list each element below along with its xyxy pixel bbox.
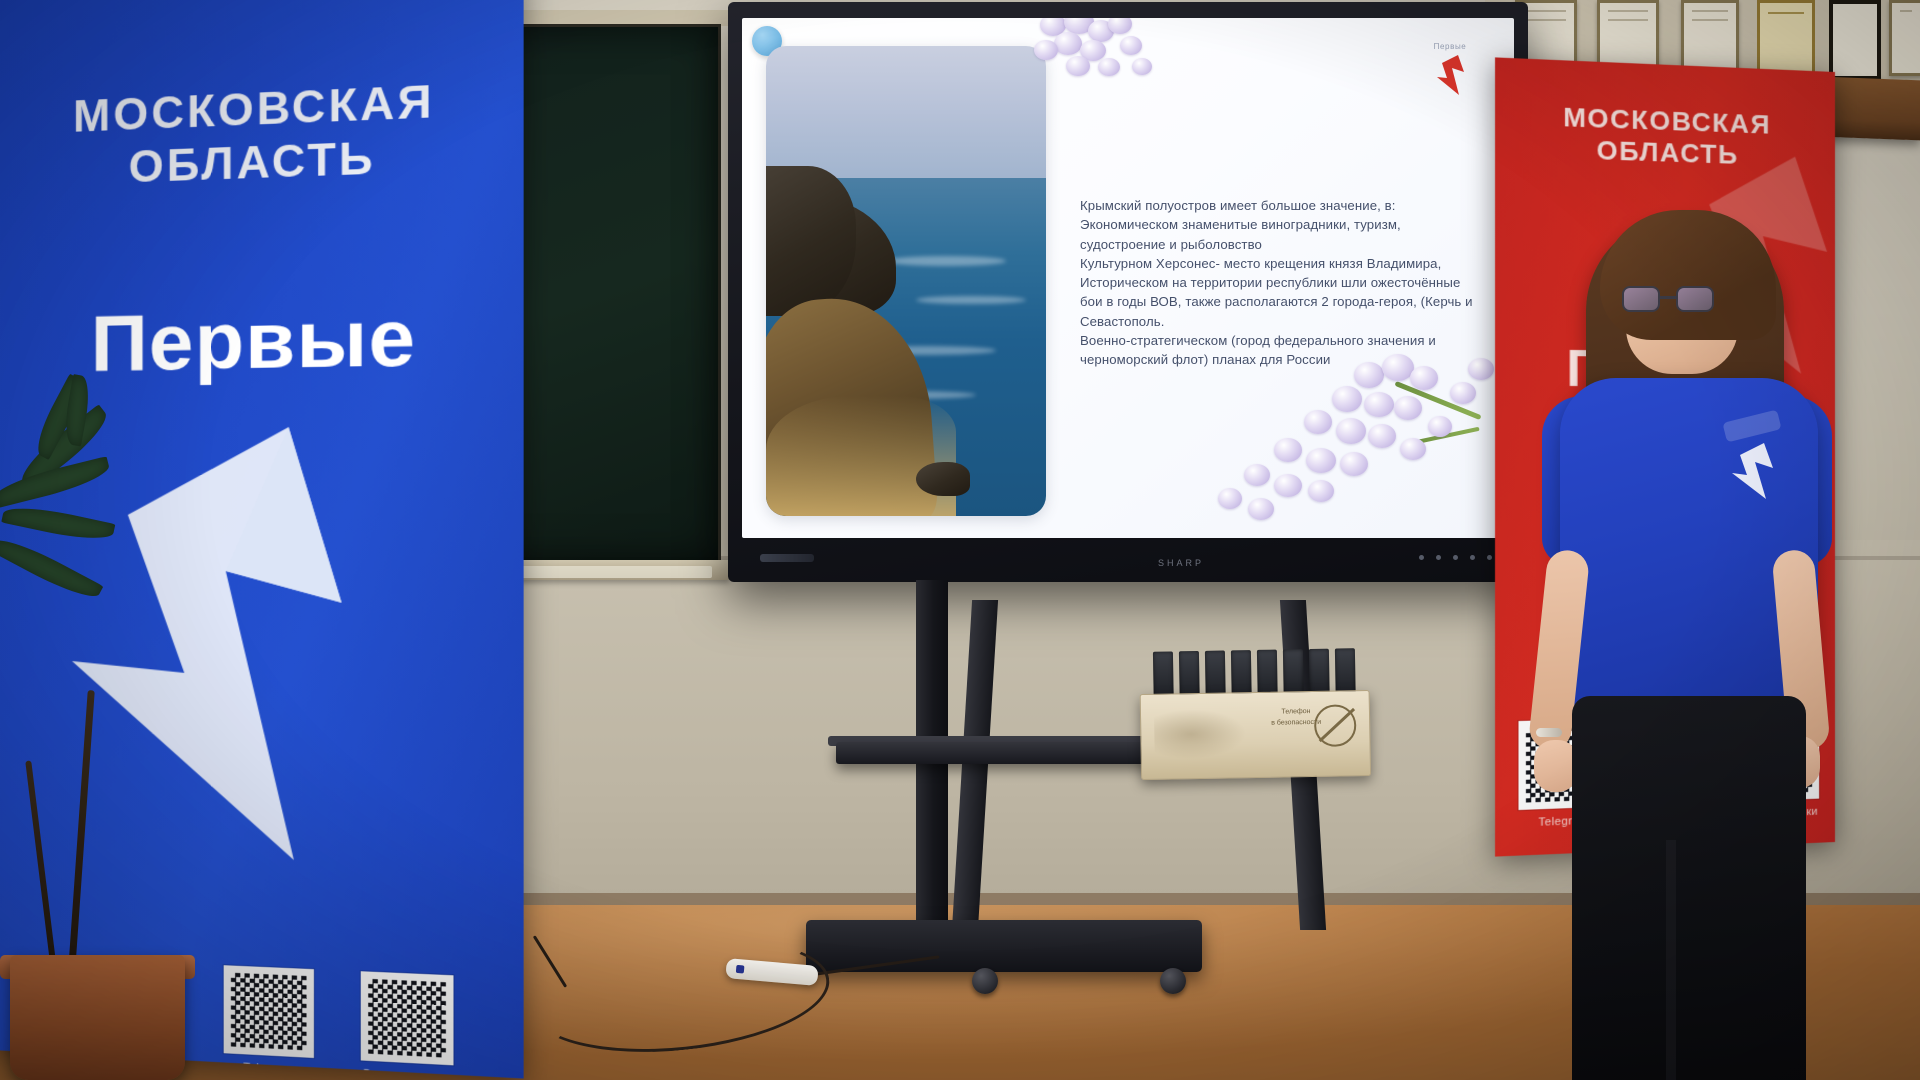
- decor-lilac-top: [1020, 18, 1190, 160]
- qr-odnoklassniki-blue[interactable]: Одноклассники: [361, 971, 454, 1078]
- display-button-power[interactable]: [1419, 555, 1424, 560]
- display-control-buttons[interactable]: [1419, 555, 1492, 560]
- display-screen[interactable]: Первые: [742, 18, 1514, 538]
- slide-photo-crimea: [766, 46, 1046, 516]
- stand-base: [806, 920, 1202, 972]
- presentation-room-photo: МОСКОВСКАЯ ОБЛАСТЬ Первые Telegram Однок…: [0, 0, 1920, 1080]
- arrow-mark-icon: [1433, 53, 1467, 97]
- glasses-icon: [1622, 286, 1714, 312]
- stand-caster: [972, 968, 998, 994]
- photo-wave: [916, 296, 1026, 304]
- pants-center-seam: [1666, 840, 1676, 1080]
- glasses-lens-left: [1622, 286, 1660, 312]
- slide-line: Культурном Херсонес- место крещения княз…: [1080, 254, 1510, 273]
- glasses-bridge: [1660, 296, 1676, 299]
- certificate-frame: [1889, 0, 1920, 76]
- certificate-frame: [1681, 0, 1739, 72]
- display-button-source[interactable]: [1453, 555, 1458, 560]
- stand-shelf: [836, 742, 1176, 764]
- slide-line: судостроение и рыболовство: [1080, 235, 1510, 254]
- qr-row-blue: Telegram Одноклассники: [224, 965, 454, 1078]
- slide-line: Историческом на территории республики шл…: [1080, 273, 1510, 292]
- bracelet: [1536, 728, 1562, 737]
- plant-pot: [10, 955, 185, 1080]
- stand-caster: [1160, 968, 1186, 994]
- slide-line: Экономическом знаменитые виноградники, т…: [1080, 215, 1510, 234]
- display-button-volume-down[interactable]: [1470, 555, 1475, 560]
- slide-body-text: Крымский полуостров имеет большое значен…: [1080, 196, 1510, 369]
- presentation-slide: Первые: [742, 18, 1514, 538]
- slide-line: черноморский флот) планах для России: [1080, 350, 1510, 369]
- presenter: [1548, 200, 1848, 1080]
- phone-storage-box[interactable]: Телефон в безопасности: [1139, 648, 1371, 780]
- display-button-menu[interactable]: [1436, 555, 1441, 560]
- qr-telegram-blue[interactable]: Telegram: [224, 965, 314, 1077]
- power-strip-switch[interactable]: [736, 965, 745, 974]
- interactive-display[interactable]: Первые: [728, 2, 1528, 582]
- slide-line: бои в годы ВОВ, также располагаются 2 го…: [1080, 292, 1510, 311]
- slide-logo: Первые: [1420, 42, 1480, 102]
- pants: [1572, 696, 1806, 1080]
- qr-code-icon: [224, 965, 314, 1058]
- glasses-lens-right: [1676, 286, 1714, 312]
- certificate-frame-dark: [1829, 0, 1881, 80]
- photo-wave: [886, 256, 1006, 266]
- slide-line: Военно-стратегическом (город федеральног…: [1080, 331, 1510, 350]
- chalk-tray-insert: [497, 566, 712, 578]
- qr-code-icon: [361, 971, 454, 1065]
- slide-line: Крымский полуостров имеет большое значен…: [1080, 196, 1510, 215]
- arrow-mark-icon: [1726, 440, 1778, 502]
- photo-grass: [766, 396, 956, 516]
- slide-logo-word: Первые: [1420, 42, 1480, 51]
- slide-line: Севастополь.: [1080, 312, 1510, 331]
- decor-lilac-bottom: [1204, 352, 1504, 538]
- display-ir-sensor: [760, 554, 814, 562]
- banner-title-blue: МОСКОВСКАЯ ОБЛАСТЬ: [0, 72, 524, 199]
- phone-box-engraving: [1154, 708, 1247, 760]
- photo-rock: [916, 462, 970, 496]
- hair-front: [1600, 210, 1776, 340]
- display-button-volume-up[interactable]: [1487, 555, 1492, 560]
- display-brand-label: SHARP: [1106, 558, 1256, 570]
